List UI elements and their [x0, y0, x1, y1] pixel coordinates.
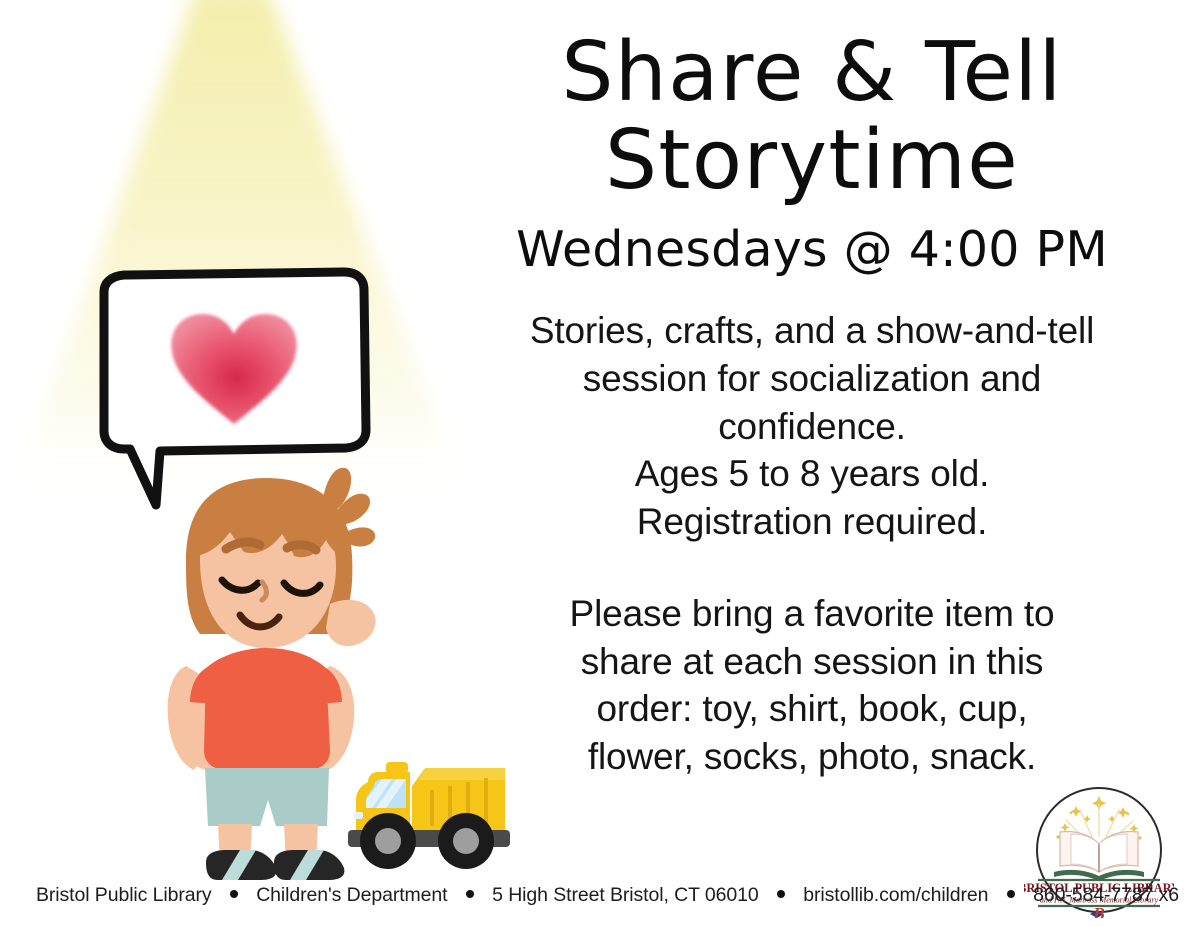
- footer-item-website[interactable]: bristollib.com/children: [803, 884, 988, 906]
- page-title: Share & Tell Storytime: [452, 0, 1172, 200]
- description-line: order: toy, shirt, book, cup,: [452, 685, 1172, 733]
- footer-item-phone: 860-584-7787 x6: [1033, 884, 1179, 906]
- description-line: Ages 5 to 8 years old.: [452, 450, 1172, 498]
- child-figure: [168, 468, 376, 880]
- description-line: Registration required.: [452, 498, 1172, 546]
- flyer-text-column: Share & Tell Storytime Wednesdays @ 4:00…: [452, 0, 1172, 860]
- description-line: confidence.: [452, 403, 1172, 451]
- description-paragraph-2: Please bring a favorite item to share at…: [452, 546, 1172, 781]
- description-line: Stories, crafts, and a show-and-tell: [452, 307, 1172, 355]
- description-line: session for socialization and: [452, 355, 1172, 403]
- svg-text:B: B: [1092, 904, 1104, 918]
- description-line: flower, socks, photo, snack.: [452, 733, 1172, 781]
- event-flyer: Share & Tell Storytime Wednesdays @ 4:00…: [0, 0, 1200, 927]
- footer-item-organization: Bristol Public Library: [36, 884, 212, 906]
- bullet-dot-icon: [230, 890, 238, 898]
- description-paragraph-1: Stories, crafts, and a show-and-tell ses…: [452, 307, 1172, 546]
- bullet-dot-icon: [466, 890, 474, 898]
- event-description: Stories, crafts, and a show-and-tell ses…: [452, 275, 1172, 780]
- bullet-dot-icon: [1007, 890, 1015, 898]
- footer-item-address: 5 High Street Bristol, CT 06010: [492, 884, 758, 906]
- title-line-1: Share & Tell: [452, 0, 1172, 112]
- event-schedule: Wednesdays @ 4:00 PM: [452, 200, 1172, 275]
- bullet-dot-icon: [777, 890, 785, 898]
- description-line: Please bring a favorite item to: [452, 590, 1172, 638]
- footer-contact-bar: Bristol Public Library Children's Depart…: [0, 884, 1010, 907]
- description-line: share at each session in this: [452, 638, 1172, 686]
- title-line-2: Storytime: [452, 112, 1172, 200]
- footer-item-department: Children's Department: [256, 884, 447, 906]
